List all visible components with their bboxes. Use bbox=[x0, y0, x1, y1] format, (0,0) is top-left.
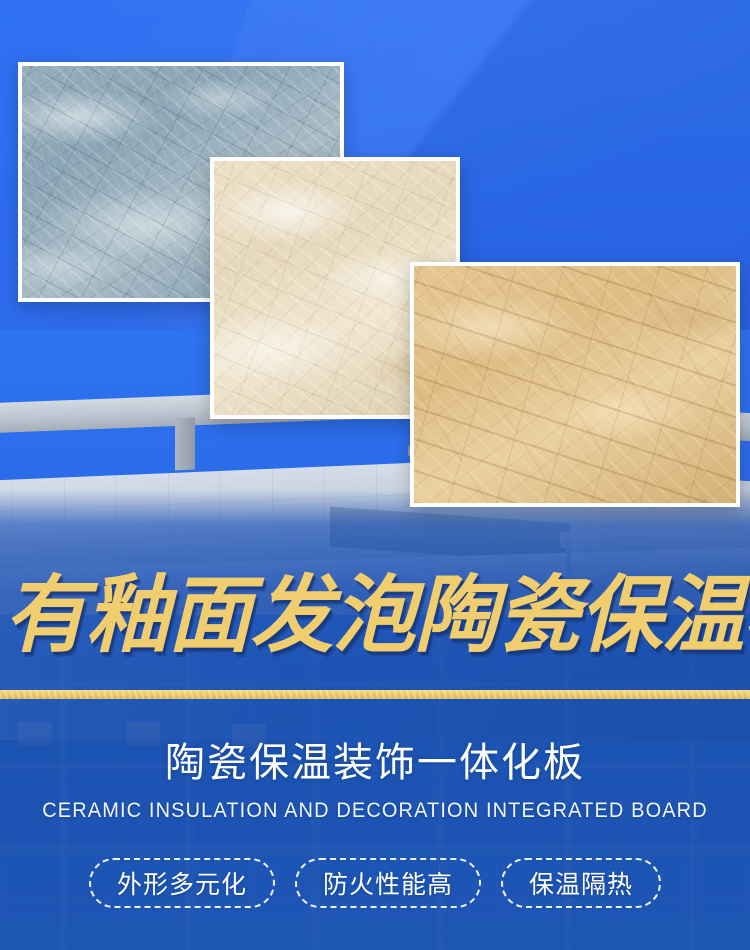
subtitle-english: CERAMIC INSULATION AND DECORATION INTEGR… bbox=[19, 797, 732, 825]
headline-band: 有釉面发泡陶瓷保温板 bbox=[0, 540, 750, 690]
gold-divider bbox=[0, 690, 750, 699]
headline-title: 有釉面发泡陶瓷保温板 bbox=[4, 540, 747, 690]
feature-tag-list: 外形多元化 防火性能高 保温隔热 bbox=[0, 858, 750, 908]
feature-tag-fireproof[interactable]: 防火性能高 bbox=[295, 858, 481, 908]
feature-tag-insulation[interactable]: 保温隔热 bbox=[501, 858, 661, 908]
tile-sample-3 bbox=[410, 262, 740, 507]
feature-tag-shape[interactable]: 外形多元化 bbox=[89, 858, 275, 908]
product-banner: 有釉面发泡陶瓷保温板 陶瓷保温装饰一体化板 CERAMIC INSULATION… bbox=[0, 0, 750, 950]
tan-marble-texture bbox=[414, 266, 736, 503]
subtitle-chinese: 陶瓷保温装饰一体化板 bbox=[0, 735, 750, 791]
